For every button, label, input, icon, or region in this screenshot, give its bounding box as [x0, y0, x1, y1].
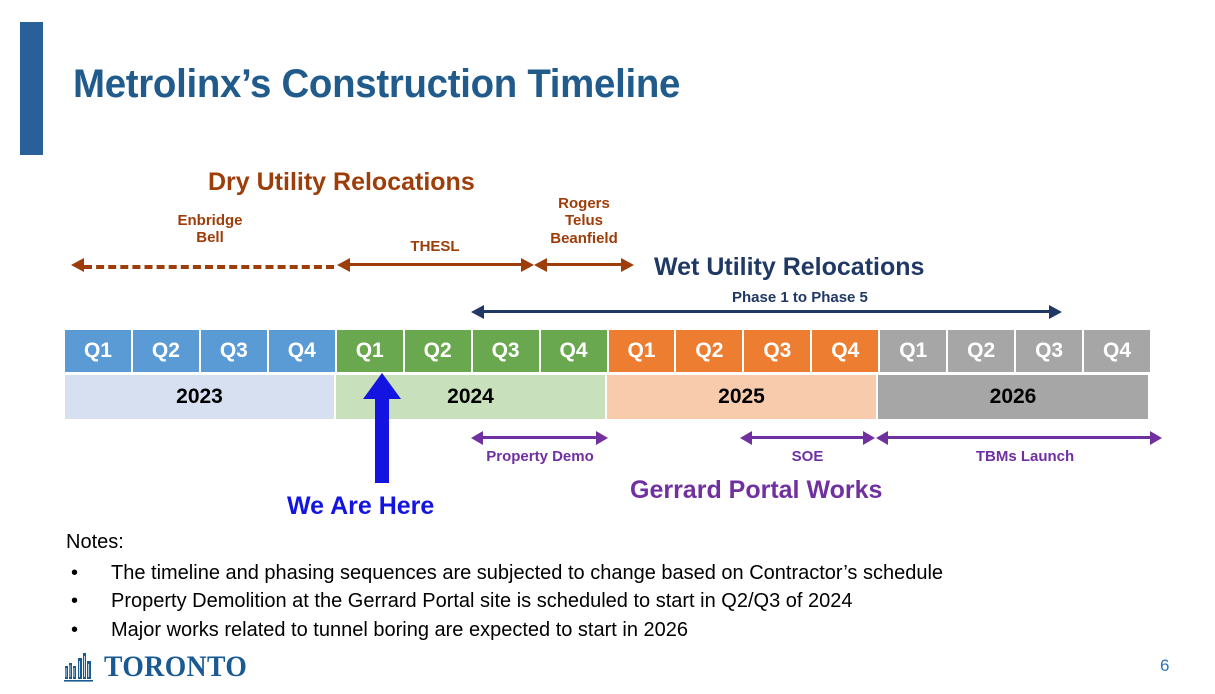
property-demo-label: Property Demo: [470, 448, 610, 465]
tbms-launch-label: TBMs Launch: [955, 448, 1095, 465]
note-bullet-icon: •: [66, 559, 111, 587]
we-are-here-arrow-shaft: [375, 396, 389, 483]
timeline-grid: Q1 Q2 Q3 Q4 Q1 Q2 Q3 Q4 Q1 Q2 Q3 Q4 Q1 Q…: [65, 330, 1150, 419]
dry-arrow-2-head-right: [521, 258, 534, 272]
quarter-cell[interactable]: Q3: [473, 330, 539, 372]
soe-arrow-head-right: [863, 431, 875, 445]
dry-segment-3-label: Rogers Telus Beanfield: [538, 195, 630, 247]
note-text: The timeline and phasing sequences are s…: [111, 559, 1166, 587]
year-cell-2023[interactable]: 2023: [65, 375, 334, 419]
quarter-cell[interactable]: Q2: [405, 330, 471, 372]
quarter-cell[interactable]: Q1: [65, 330, 131, 372]
dry-segment-1-line2: Bell: [160, 229, 260, 246]
quarter-cell[interactable]: Q4: [812, 330, 878, 372]
dry-segment-3-line2: Telus: [538, 212, 630, 229]
wet-utility-heading: Wet Utility Relocations: [654, 253, 924, 282]
quarter-cell[interactable]: Q2: [948, 330, 1014, 372]
dry-arrow-3-line: [545, 263, 624, 266]
dry-segment-3-line3: Beanfield: [538, 230, 630, 247]
note-text: Property Demolition at the Gerrard Porta…: [111, 587, 1166, 615]
dry-arrow-2-line: [348, 263, 524, 266]
note-item: • Property Demolition at the Gerrard Por…: [66, 587, 1166, 615]
year-cell-2025[interactable]: 2025: [607, 375, 876, 419]
dry-arrow-3-head-right: [621, 258, 634, 272]
quarter-cell[interactable]: Q1: [609, 330, 675, 372]
quarter-cell[interactable]: Q3: [201, 330, 267, 372]
dry-segment-1-line1: Enbridge: [160, 212, 260, 229]
note-bullet-icon: •: [66, 587, 111, 615]
dry-arrow-1-dashed-line: [84, 265, 334, 269]
slide-canvas: Metrolinx’s Construction Timeline Dry Ut…: [0, 0, 1215, 694]
property-demo-arrow-line: [481, 436, 599, 439]
dry-utility-heading: Dry Utility Relocations: [208, 168, 475, 197]
quarter-cell[interactable]: Q4: [269, 330, 335, 372]
notes-heading: Notes:: [66, 531, 1166, 554]
property-demo-arrow-head-right: [596, 431, 608, 445]
quarter-cell[interactable]: Q2: [676, 330, 742, 372]
title-accent-bar: [20, 22, 43, 155]
dry-segment-1-label: Enbridge Bell: [160, 212, 260, 247]
tbms-arrow-line: [886, 436, 1153, 439]
note-item: • Major works related to tunnel boring a…: [66, 616, 1166, 644]
quarter-cell[interactable]: Q4: [1084, 330, 1150, 372]
note-bullet-icon: •: [66, 616, 111, 644]
quarter-cell[interactable]: Q3: [1016, 330, 1082, 372]
dry-segment-2-label: THESL: [395, 238, 475, 255]
quarter-cell[interactable]: Q4: [541, 330, 607, 372]
quarter-cell[interactable]: Q2: [133, 330, 199, 372]
page-number: 6: [1160, 656, 1169, 676]
year-cell-2026[interactable]: 2026: [878, 375, 1148, 419]
toronto-skyline-icon: [64, 652, 100, 682]
notes-section: Notes: • The timeline and phasing sequen…: [66, 531, 1166, 644]
tbms-arrow-head-right: [1150, 431, 1162, 445]
wet-arrow-line: [482, 310, 1052, 313]
wet-arrow-head-right: [1049, 305, 1062, 319]
note-item: • The timeline and phasing sequences are…: [66, 559, 1166, 587]
dry-arrow-1-head-left: [71, 258, 84, 272]
toronto-logo: TORONTO: [64, 652, 260, 682]
page-title: Metrolinx’s Construction Timeline: [73, 62, 680, 107]
toronto-logo-text: TORONTO: [104, 652, 247, 682]
gerrard-portal-heading: Gerrard Portal Works: [630, 476, 882, 505]
quarter-cell[interactable]: Q1: [880, 330, 946, 372]
quarter-cell[interactable]: Q1: [337, 330, 403, 372]
wet-utility-subheading: Phase 1 to Phase 5: [732, 289, 868, 306]
dry-segment-3-line1: Rogers: [538, 195, 630, 212]
quarter-row: Q1 Q2 Q3 Q4 Q1 Q2 Q3 Q4 Q1 Q2 Q3 Q4 Q1 Q…: [65, 330, 1150, 372]
soe-label: SOE: [740, 448, 875, 465]
year-row: 2023 2024 2025 2026: [65, 375, 1150, 419]
note-text: Major works related to tunnel boring are…: [111, 616, 1166, 644]
we-are-here-label: We Are Here: [287, 492, 434, 521]
quarter-cell[interactable]: Q3: [744, 330, 810, 372]
soe-arrow-line: [750, 436, 866, 439]
